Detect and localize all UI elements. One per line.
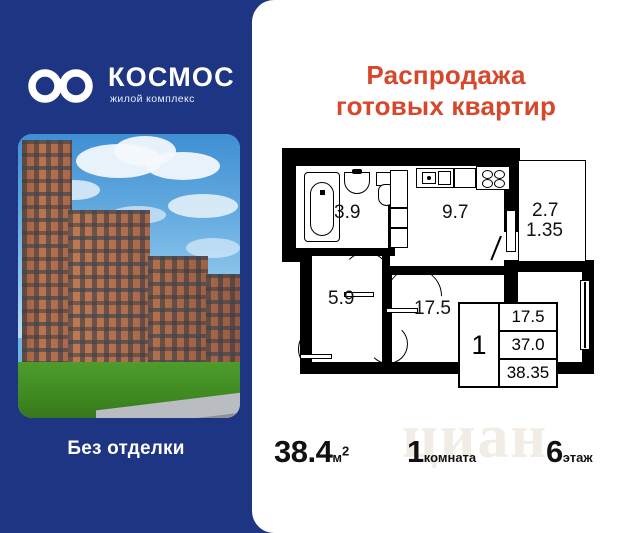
area-label-balcony-adj: 1.35 xyxy=(526,220,563,242)
stat-area-unit: м xyxy=(332,450,342,465)
stat-area-value: 38.4 xyxy=(274,434,332,469)
stat-rooms-value: 1 xyxy=(407,434,424,469)
area-label-balcony: 2.7 xyxy=(532,200,558,222)
dish-rack-icon xyxy=(438,171,451,185)
plan-summary-table: 1 17.5 37.0 38.35 xyxy=(458,302,558,388)
sink-drain-icon xyxy=(427,176,431,180)
balcony-door xyxy=(506,210,516,252)
cloud xyxy=(186,238,240,258)
summary-total-area: 38.35 xyxy=(500,360,556,386)
infinity-icon xyxy=(26,66,98,106)
sink-icon xyxy=(344,172,370,194)
cloud xyxy=(146,152,220,180)
advertisement-canvas: КОСМОС жилой комплекс xyxy=(0,0,640,533)
stat-floor-label: этаж xyxy=(563,450,593,465)
area-label-kitchen: 9.7 xyxy=(442,202,468,224)
door-leaf-entry xyxy=(300,354,332,359)
cloud xyxy=(168,194,238,218)
faucet-icon xyxy=(352,169,362,174)
burner-icon xyxy=(494,179,505,188)
apartment-stats: 38.4м2 1комната 6этаж xyxy=(252,424,640,484)
brand-tagline: жилой комплекс xyxy=(108,92,268,106)
stat-area-unit-exponent: 2 xyxy=(342,444,349,459)
bath-drain-icon xyxy=(320,190,325,195)
stat-floor-value: 6 xyxy=(546,434,563,469)
burner-icon xyxy=(482,170,493,179)
wall-left-upper xyxy=(282,148,296,262)
finish-type-caption: Без отделки xyxy=(0,438,252,460)
summary-area-no-balcony: 37.0 xyxy=(500,332,556,360)
summary-rooms-count: 1 xyxy=(460,304,500,386)
building-tower xyxy=(22,140,72,372)
closet-upper xyxy=(390,208,408,228)
kitchen-worktop xyxy=(454,168,476,188)
stat-rooms-label: комната xyxy=(424,450,476,465)
brand-name: КОСМОС xyxy=(108,62,268,92)
building-wing xyxy=(148,256,208,372)
right-content-panel: Распродажа готовых квартир циан xyxy=(252,0,640,533)
building-wing xyxy=(206,274,240,372)
headline-line-1: Распродажа xyxy=(366,60,525,90)
building-wing xyxy=(68,210,150,372)
area-label-bathroom: 3.9 xyxy=(334,202,360,224)
closet-lower xyxy=(390,228,408,248)
headline-line-2: готовых квартир xyxy=(336,91,556,121)
door-swing-hall xyxy=(368,324,408,364)
brand-logo: КОСМОС жилой комплекс xyxy=(26,62,236,114)
burner-icon xyxy=(482,179,493,188)
left-brand-panel: КОСМОС жилой комплекс xyxy=(0,0,252,533)
balcony-door-swing xyxy=(490,236,502,261)
window-mullion xyxy=(584,282,586,348)
residential-complex-photo xyxy=(18,134,240,418)
brand-text: КОСМОС жилой комплекс xyxy=(108,62,268,106)
wall-top xyxy=(282,148,520,166)
stat-area: 38.4м2 xyxy=(274,434,349,470)
area-label-hallway: 5.9 xyxy=(328,288,354,310)
riser-shaft xyxy=(390,170,408,208)
burner-icon xyxy=(494,170,505,179)
stat-floor: 6этаж xyxy=(546,434,593,470)
summary-living-area: 17.5 xyxy=(500,304,556,332)
area-label-living-room: 17.5 xyxy=(414,298,451,320)
floor-plan: 3.9 9.7 2.7 1.35 5.9 17.5 1 17.5 37.0 38… xyxy=(282,140,620,402)
stove-icon xyxy=(476,166,510,190)
page-title: Распродажа готовых квартир xyxy=(252,60,640,122)
stat-rooms: 1комната xyxy=(407,434,476,470)
door-swing-entry xyxy=(298,326,344,372)
